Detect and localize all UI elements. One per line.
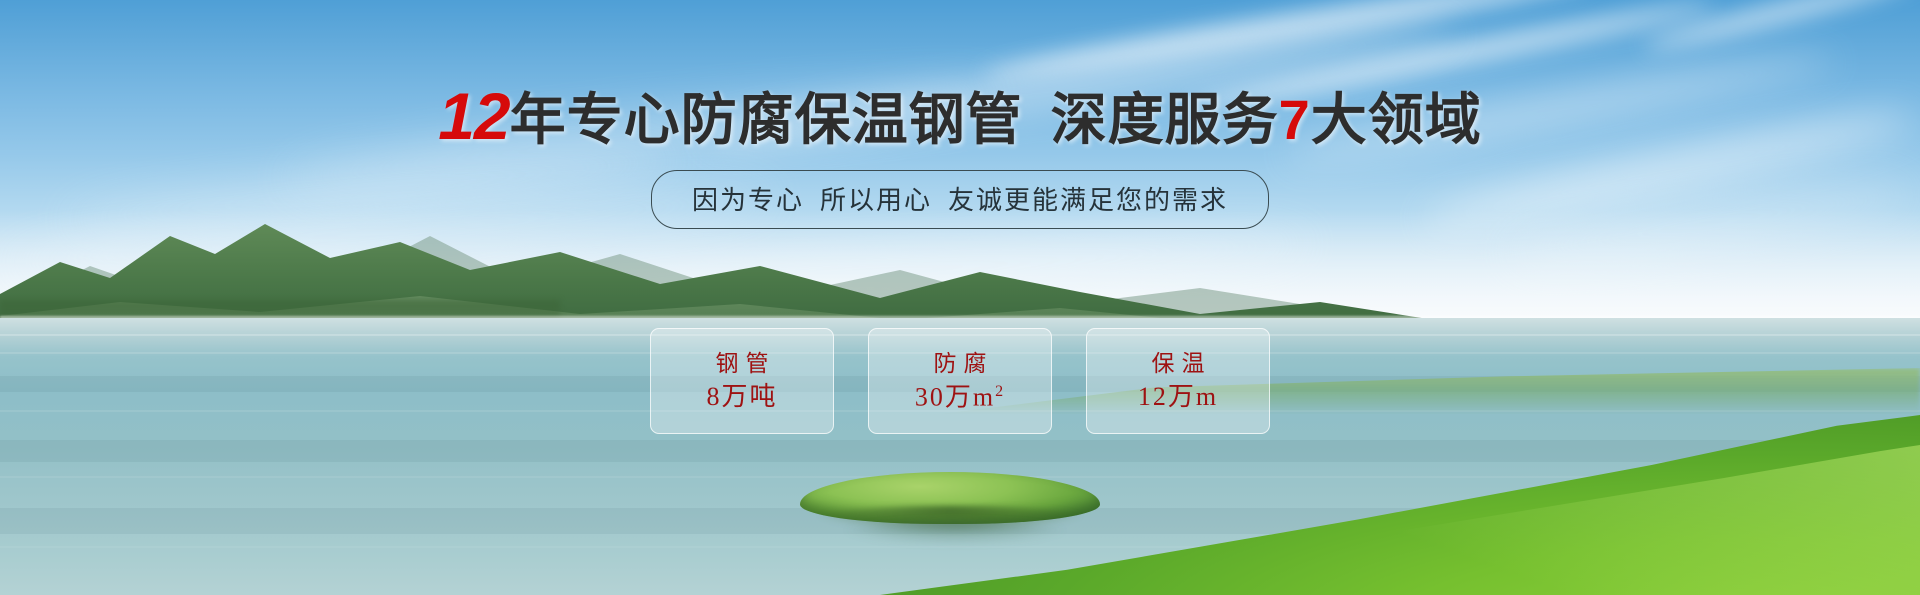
stat-card-value: 12万m — [1138, 384, 1218, 410]
stat-card-steel-pipe[interactable]: 钢管 8万吨 — [650, 328, 834, 434]
stat-card-value: 8万吨 — [706, 384, 777, 410]
subtitle-part-1: 因为专心 — [692, 185, 804, 215]
hero-banner: 12年专心防腐保温钢管深度服务7大领域 因为专心所以用心友诚更能满足您的需求 钢… — [0, 0, 1920, 595]
headline-lead-number: 12 — [438, 79, 509, 153]
headline-tail: 大领域 — [1311, 88, 1482, 151]
stat-card-title: 保温 — [1145, 352, 1212, 375]
page-title: 12年专心防腐保温钢管深度服务7大领域 — [0, 83, 1920, 149]
stat-card-list: 钢管 8万吨 防腐 30万m2 保温 12万m — [650, 328, 1270, 434]
stat-card-insulation[interactable]: 保温 12万m — [1086, 328, 1270, 434]
stat-card-anticorrosion[interactable]: 防腐 30万m2 — [868, 328, 1052, 434]
stat-card-title: 钢管 — [709, 352, 776, 375]
subtitle-part-2: 所以用心 — [820, 185, 932, 215]
subtitle-part-3: 友诚更能满足您的需求 — [948, 185, 1228, 215]
subtitle-container: 因为专心所以用心友诚更能满足您的需求 — [0, 170, 1920, 229]
headline-lead-rest: 年专心防腐保温钢管 — [510, 88, 1023, 151]
stat-card-value: 30万m2 — [915, 384, 1005, 411]
subtitle-pill: 因为专心所以用心友诚更能满足您的需求 — [651, 170, 1269, 229]
grass-island — [800, 472, 1100, 540]
stat-card-value-superscript: 2 — [995, 383, 1005, 400]
headline-second-part: 深度服务 — [1051, 88, 1279, 151]
headline-accent-number: 7 — [1279, 88, 1311, 151]
stat-card-title: 防腐 — [927, 352, 994, 375]
